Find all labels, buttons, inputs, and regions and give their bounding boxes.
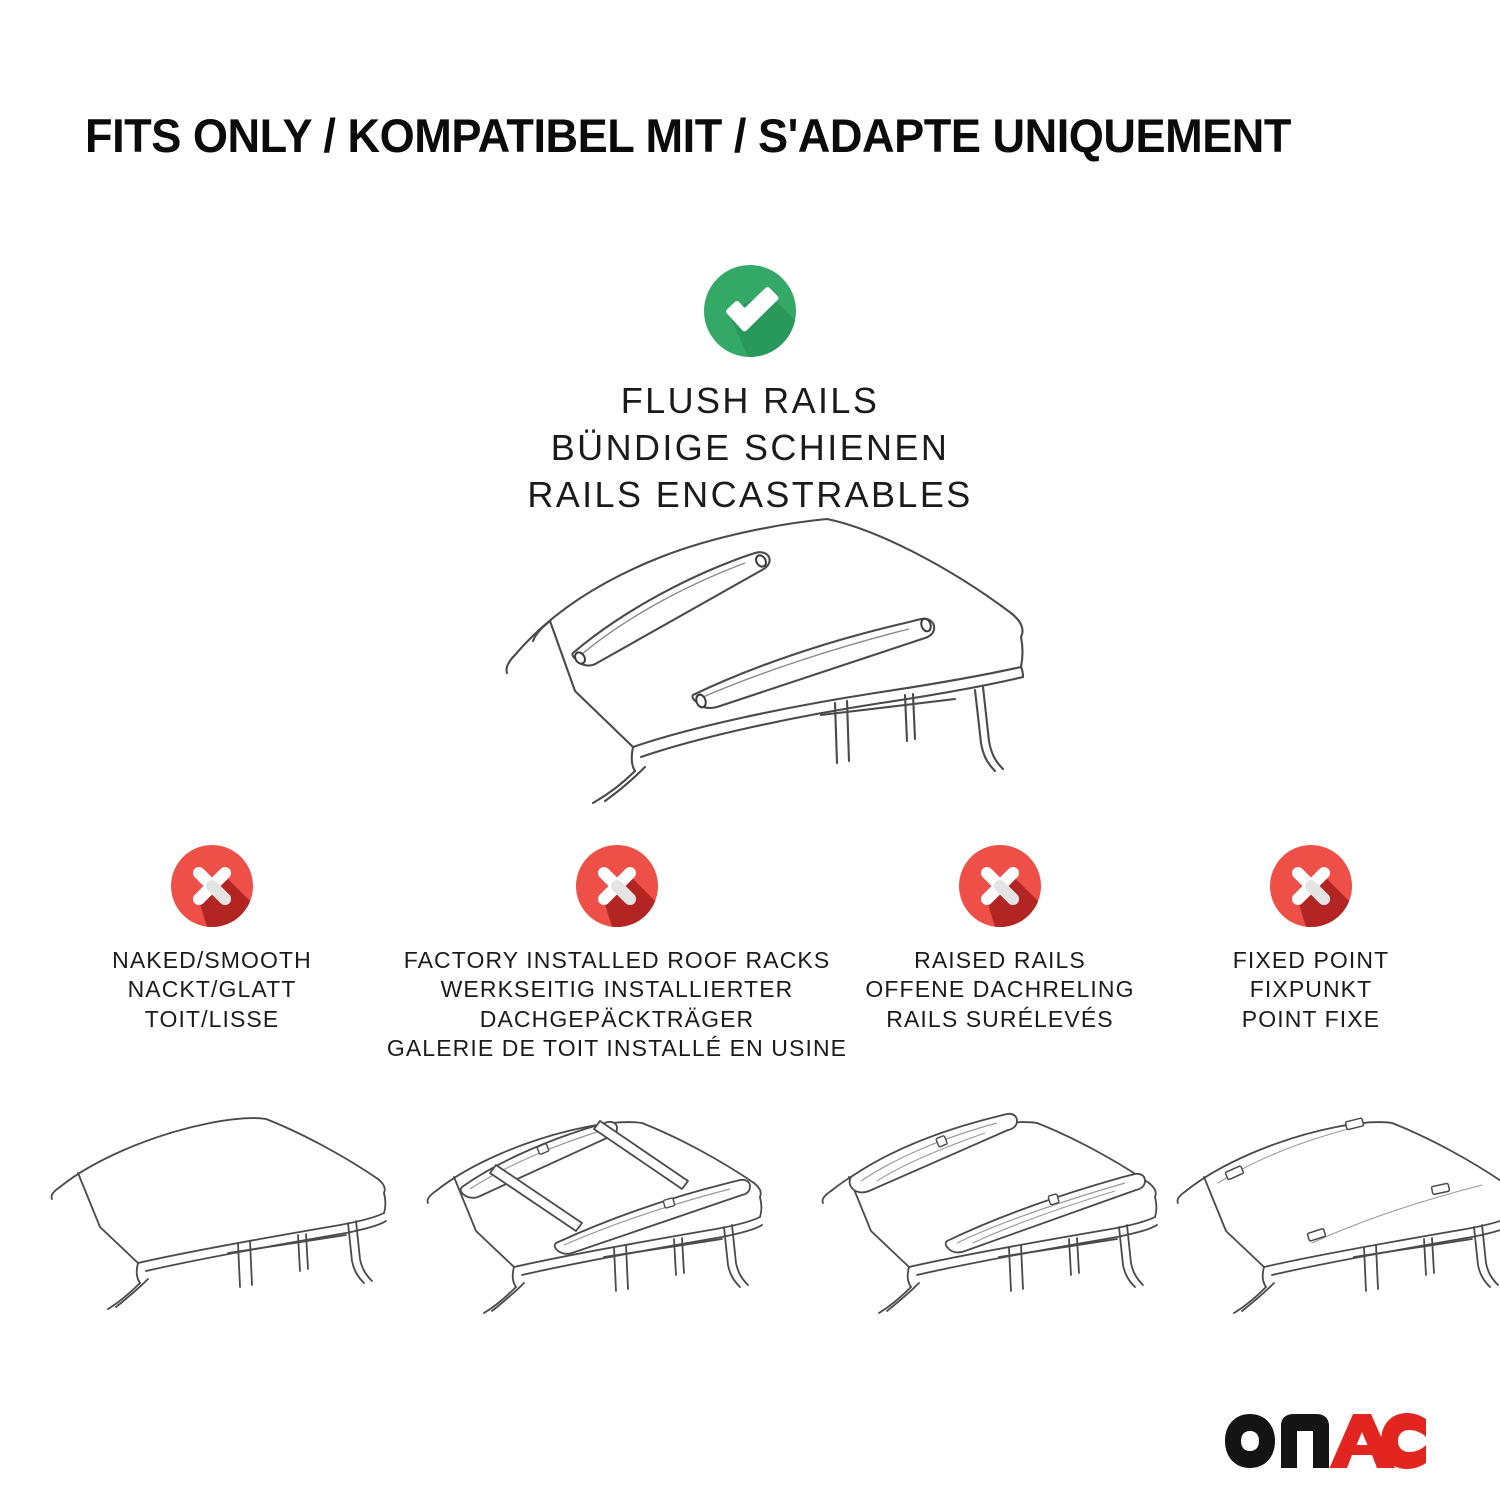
incompatible-item-factory-installed-roof-racks: FACTORY INSTALLED ROOF RACKS WERKSEITIG … (372, 845, 862, 1064)
label-de: NACKT/GLATT (62, 975, 362, 1004)
car-roof-raised-rails-illustration (805, 1095, 1185, 1315)
logo-letter-c (1381, 1413, 1426, 1469)
incompatible-label-group: RAISED RAILS OFFENE DACHRELING RAILS SUR… (845, 946, 1155, 1034)
page-title: FITS ONLY / KOMPATIBEL MIT / S'ADAPTE UN… (85, 112, 1371, 159)
incompatible-item-raised-rails: RAISED RAILS OFFENE DACHRELING RAILS SUR… (845, 845, 1155, 1034)
omac-logo (1223, 1412, 1428, 1470)
label-en: RAISED RAILS (845, 946, 1155, 975)
compatible-label-de: BÜNDIGE SCHIENEN (0, 424, 1500, 471)
check-circle-icon (704, 265, 796, 357)
car-roof-factory-racks-illustration (410, 1095, 790, 1315)
label-en: NAKED/SMOOTH (62, 946, 362, 975)
car-roof-with-flush-rails-illustration (455, 495, 1055, 805)
compatibility-infographic: FITS ONLY / KOMPATIBEL MIT / S'ADAPTE UN… (0, 0, 1500, 1500)
logo-letter-o (1225, 1414, 1275, 1468)
label-en: FACTORY INSTALLED ROOF RACKS (372, 946, 862, 975)
logo-letter-m (1281, 1414, 1329, 1468)
label-fr: GALERIE DE TOIT INSTALLÉ EN USINE (372, 1034, 862, 1063)
x-circle-icon (576, 845, 658, 927)
label-de: FIXPUNKT (1180, 975, 1442, 1004)
incompatible-item-naked-smooth: NAKED/SMOOTH NACKT/GLATT TOIT/LISSE (62, 845, 362, 1034)
car-roof-fixed-point-illustration (1160, 1095, 1500, 1315)
label-en: FIXED POINT (1180, 946, 1442, 975)
incompatible-label-group: FIXED POINT FIXPUNKT POINT FIXE (1180, 946, 1442, 1034)
car-roof-naked-illustration (40, 1095, 420, 1315)
x-circle-icon (959, 845, 1041, 927)
label-fr: RAILS SURÉLEVÉS (845, 1005, 1155, 1034)
x-circle-icon (171, 845, 253, 927)
label-de: OFFENE DACHRELING (845, 975, 1155, 1004)
x-circle-icon (1270, 845, 1352, 927)
label-de-1: WERKSEITIG INSTALLIERTER (372, 975, 862, 1004)
compatible-section: FLUSH RAILS BÜNDIGE SCHIENEN RAILS ENCAS… (0, 265, 1500, 518)
incompatible-item-fixed-point: FIXED POINT FIXPUNKT POINT FIXE (1180, 845, 1442, 1034)
label-de-2: DACHGEPÄCKTRÄGER (372, 1005, 862, 1034)
compatible-label-en: FLUSH RAILS (0, 377, 1500, 424)
label-fr: POINT FIXE (1180, 1005, 1442, 1034)
label-fr: TOIT/LISSE (62, 1005, 362, 1034)
incompatible-label-group: NAKED/SMOOTH NACKT/GLATT TOIT/LISSE (62, 946, 362, 1034)
incompatible-label-group: FACTORY INSTALLED ROOF RACKS WERKSEITIG … (372, 946, 862, 1064)
roof-illustration-row (0, 1095, 1500, 1315)
